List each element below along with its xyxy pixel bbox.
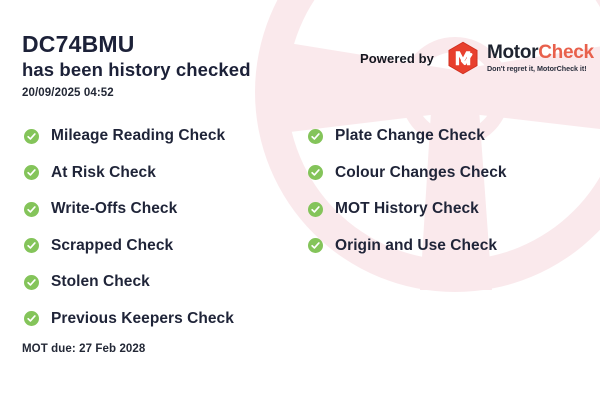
check-item-write-offs: Write-Offs Check bbox=[24, 191, 234, 228]
check-circle-icon bbox=[308, 129, 323, 144]
check-list-right-column: Plate Change Check Colour Changes Check … bbox=[308, 118, 507, 264]
motorcheck-hexagon-m-icon bbox=[446, 41, 480, 75]
powered-by-block: Powered by MotorCheck Don't regret it, M… bbox=[360, 41, 594, 75]
check-item-label: Previous Keepers Check bbox=[51, 310, 234, 328]
check-item-mot-history: MOT History Check bbox=[308, 191, 507, 228]
check-circle-icon bbox=[24, 202, 39, 217]
check-item-label: Colour Changes Check bbox=[335, 164, 507, 182]
check-item-mileage-reading: Mileage Reading Check bbox=[24, 118, 234, 155]
check-item-at-risk: At Risk Check bbox=[24, 155, 234, 192]
check-circle-icon bbox=[24, 129, 39, 144]
check-item-label: Origin and Use Check bbox=[335, 237, 497, 255]
brand-name-motor: Motor bbox=[487, 42, 538, 63]
brand-tagline: Don't regret it, MotorCheck it! bbox=[487, 64, 594, 73]
check-item-label: Mileage Reading Check bbox=[51, 127, 225, 145]
mot-due-text: MOT due: 27 Feb 2028 bbox=[22, 343, 145, 355]
brand-name-check: Check bbox=[538, 42, 594, 63]
brand-name: MotorCheck bbox=[487, 43, 594, 62]
powered-by-label: Powered by bbox=[360, 51, 434, 66]
check-item-scrapped: Scrapped Check bbox=[24, 228, 234, 265]
check-timestamp: 20/09/2025 04:52 bbox=[22, 87, 251, 99]
check-item-label: Stolen Check bbox=[51, 273, 150, 291]
check-item-colour-changes: Colour Changes Check bbox=[308, 155, 507, 192]
check-circle-icon bbox=[308, 238, 323, 253]
check-item-label: Plate Change Check bbox=[335, 127, 485, 145]
page-title: has been history checked bbox=[22, 58, 251, 82]
check-item-label: Scrapped Check bbox=[51, 237, 173, 255]
check-item-label: Write-Offs Check bbox=[51, 200, 177, 218]
motorcheck-logo[interactable]: MotorCheck Don't regret it, MotorCheck i… bbox=[446, 41, 594, 75]
check-circle-icon bbox=[24, 238, 39, 253]
check-item-label: At Risk Check bbox=[51, 164, 156, 182]
check-circle-icon bbox=[24, 311, 39, 326]
vehicle-registration: DC74BMU bbox=[22, 30, 251, 58]
page-header: DC74BMU has been history checked 20/09/2… bbox=[22, 30, 251, 99]
motorcheck-wordmark: MotorCheck Don't regret it, MotorCheck i… bbox=[487, 43, 594, 73]
check-circle-icon bbox=[308, 165, 323, 180]
check-item-origin-and-use: Origin and Use Check bbox=[308, 228, 507, 265]
check-circle-icon bbox=[308, 202, 323, 217]
check-item-label: MOT History Check bbox=[335, 200, 479, 218]
check-item-plate-change: Plate Change Check bbox=[308, 118, 507, 155]
vehicle-history-check-card: DC74BMU has been history checked 20/09/2… bbox=[0, 0, 600, 400]
check-circle-icon bbox=[24, 275, 39, 290]
check-item-previous-keepers: Previous Keepers Check bbox=[24, 301, 234, 338]
check-circle-icon bbox=[24, 165, 39, 180]
check-list-left-column: Mileage Reading Check At Risk Check Writ… bbox=[24, 118, 234, 337]
check-item-stolen: Stolen Check bbox=[24, 264, 234, 301]
